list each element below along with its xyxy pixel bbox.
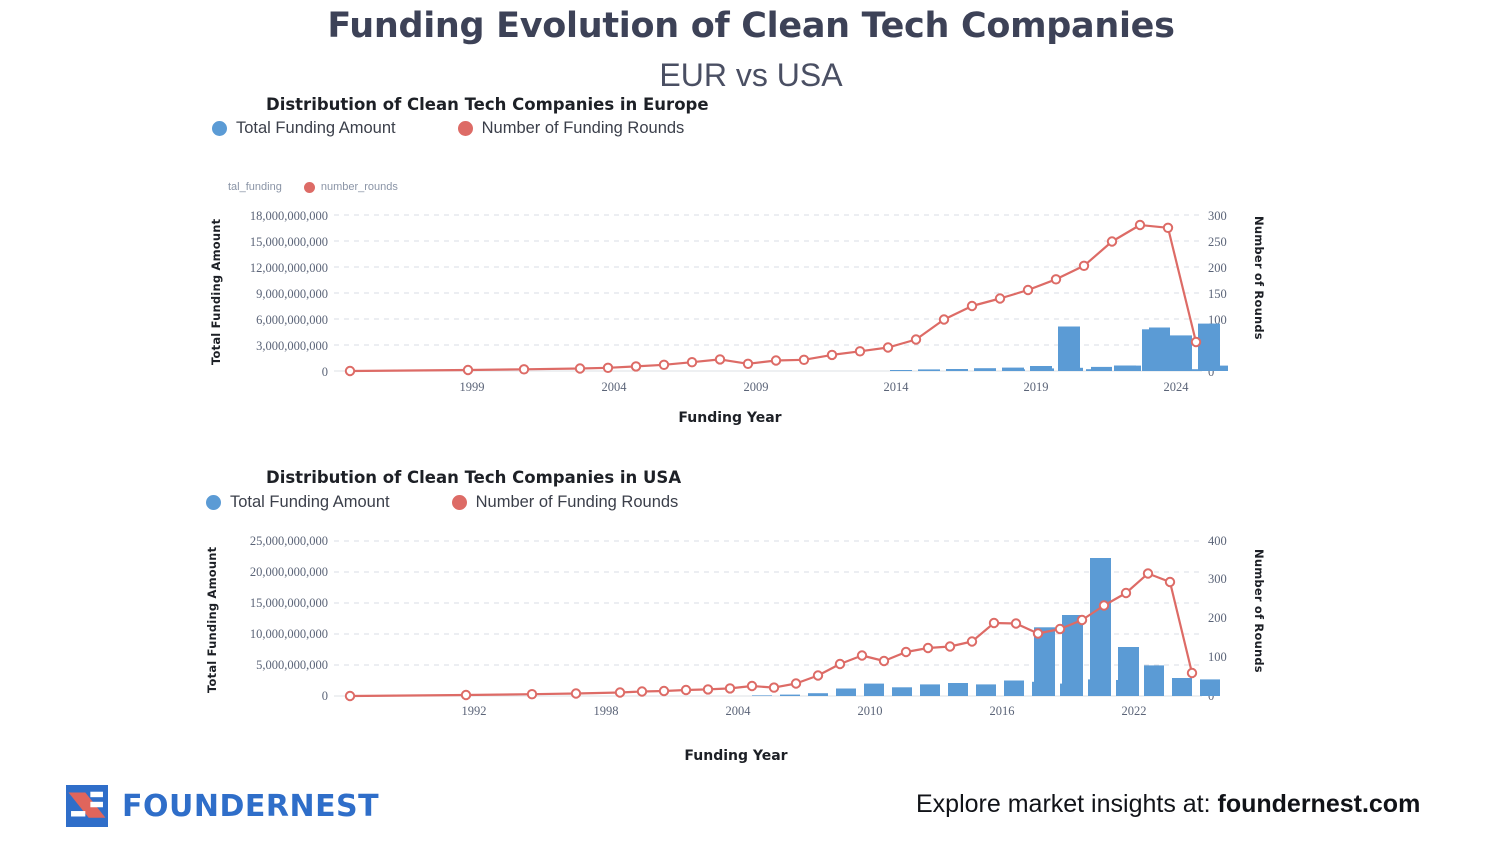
- legend-dot-blue-icon: [212, 121, 227, 136]
- x-tick-europe-2014: 2014: [856, 380, 936, 395]
- chart-legend-secondary-europe: tal_funding number_rounds: [228, 181, 398, 193]
- x-axis-title-europe: Funding Year: [600, 410, 860, 426]
- chart-legend-usa: Total Funding Amount Number of Funding R…: [206, 493, 678, 512]
- legend-label-number-rounds-usa: Number of Funding Rounds: [476, 493, 679, 512]
- x-tick-usa-2016: 2016: [962, 704, 1042, 719]
- y2-tick-europe-300: 300: [1208, 209, 1252, 224]
- y-tick-usa-15b: 15,000,000,000: [196, 596, 328, 611]
- x-tick-usa-2022: 2022: [1094, 704, 1174, 719]
- plot-area-europe: [334, 213, 1202, 373]
- x-tick-usa-1992: 1992: [434, 704, 514, 719]
- y-tick-usa-25b: 25,000,000,000: [196, 534, 328, 549]
- y-tick-europe-3b: 3,000,000,000: [200, 339, 328, 354]
- chart-legend-europe: Total Funding Amount Number of Funding R…: [212, 119, 684, 138]
- x-tick-usa-2010: 2010: [830, 704, 910, 719]
- y-tick-usa-10b: 10,000,000,000: [196, 627, 328, 642]
- y2-tick-usa-100: 100: [1208, 650, 1252, 665]
- legend-dot-blue-icon: [206, 495, 221, 510]
- legend-label-number-rounds: Number of Funding Rounds: [482, 119, 685, 138]
- chart-title-usa: Distribution of Clean Tech Companies in …: [266, 468, 681, 487]
- y-tick-europe-0: 0: [200, 365, 328, 380]
- y2-tick-europe-250: 250: [1208, 235, 1252, 250]
- y-tick-usa-5b: 5,000,000,000: [196, 658, 328, 673]
- plot-svg-usa: [334, 538, 1202, 698]
- page-title: Funding Evolution of Clean Tech Companie…: [0, 6, 1502, 46]
- chart-panel-usa: Distribution of Clean Tech Companies in …: [0, 468, 1502, 778]
- legend-item-total-funding-usa[interactable]: Total Funding Amount: [206, 493, 390, 512]
- x-tick-europe-2004: 2004: [574, 380, 654, 395]
- y2-tick-europe-200: 200: [1208, 261, 1252, 276]
- bars-usa: [752, 665, 1220, 696]
- footer-cta-domain[interactable]: foundernest.com: [1218, 790, 1421, 818]
- y-tick-usa-20b: 20,000,000,000: [196, 565, 328, 580]
- slide-root: Funding Evolution of Clean Tech Companie…: [0, 0, 1502, 846]
- chart-panel-europe: Distribution of Clean Tech Companies in …: [0, 95, 1502, 435]
- footer-cta-prefix: Explore market insights at:: [916, 790, 1218, 818]
- footer-cta: Explore market insights at: foundernest.…: [916, 790, 1420, 819]
- y-tick-europe-15b: 15,000,000,000: [200, 235, 328, 250]
- y-tick-europe-18b: 18,000,000,000: [200, 209, 328, 224]
- x-tick-europe-2024: 2024: [1136, 380, 1216, 395]
- x-axis-title-usa: Funding Year: [606, 748, 866, 764]
- y-axis-title-europe-right: Number of Rounds: [1252, 216, 1266, 368]
- legend-sub-item-total-funding[interactable]: tal_funding: [228, 181, 282, 193]
- legend-sub-item-number-rounds[interactable]: number_rounds: [304, 181, 398, 193]
- legend-sub-label-number-rounds: number_rounds: [321, 181, 398, 193]
- y2-tick-europe-150: 150: [1208, 287, 1252, 302]
- legend-item-number-rounds-usa[interactable]: Number of Funding Rounds: [452, 493, 679, 512]
- y-axis-title-usa-right: Number of Rounds: [1252, 549, 1266, 701]
- x-tick-usa-2004: 2004: [698, 704, 778, 719]
- y-tick-europe-9b: 9,000,000,000: [200, 287, 328, 302]
- legend-dot-red-icon: [458, 121, 473, 136]
- legend-label-total-funding: Total Funding Amount: [236, 119, 396, 138]
- legend-sub-dot-red-icon: [304, 182, 315, 193]
- legend-label-total-funding-usa: Total Funding Amount: [230, 493, 390, 512]
- x-tick-europe-2019: 2019: [996, 380, 1076, 395]
- x-tick-europe-2009: 2009: [716, 380, 796, 395]
- x-tick-usa-1998: 1998: [566, 704, 646, 719]
- page-subtitle: EUR vs USA: [0, 57, 1502, 94]
- legend-item-number-rounds[interactable]: Number of Funding Rounds: [458, 119, 685, 138]
- legend-sub-label-total-funding: tal_funding: [228, 181, 282, 193]
- y2-tick-usa-200: 200: [1208, 611, 1252, 626]
- bars-europe-main: [890, 324, 1220, 371]
- chart-title-europe: Distribution of Clean Tech Companies in …: [266, 95, 709, 114]
- foundernest-logo-icon: [66, 785, 108, 827]
- foundernest-wordmark: FOUNDERNEST: [122, 789, 379, 824]
- y2-tick-usa-400: 400: [1208, 534, 1252, 549]
- footer-brand[interactable]: FOUNDERNEST: [66, 785, 379, 827]
- y-tick-usa-0: 0: [196, 689, 328, 704]
- x-tick-europe-1999: 1999: [432, 380, 512, 395]
- y2-tick-usa-300: 300: [1208, 572, 1252, 587]
- bars-usa-late: [1034, 558, 1139, 696]
- y-tick-europe-12b: 12,000,000,000: [200, 261, 328, 276]
- y-tick-europe-6b: 6,000,000,000: [200, 313, 328, 328]
- legend-dot-red-icon: [452, 495, 467, 510]
- plot-area-usa: [334, 538, 1202, 698]
- plot-svg-europe: [334, 213, 1202, 373]
- gridlines-europe: [334, 215, 1202, 345]
- legend-item-total-funding[interactable]: Total Funding Amount: [212, 119, 396, 138]
